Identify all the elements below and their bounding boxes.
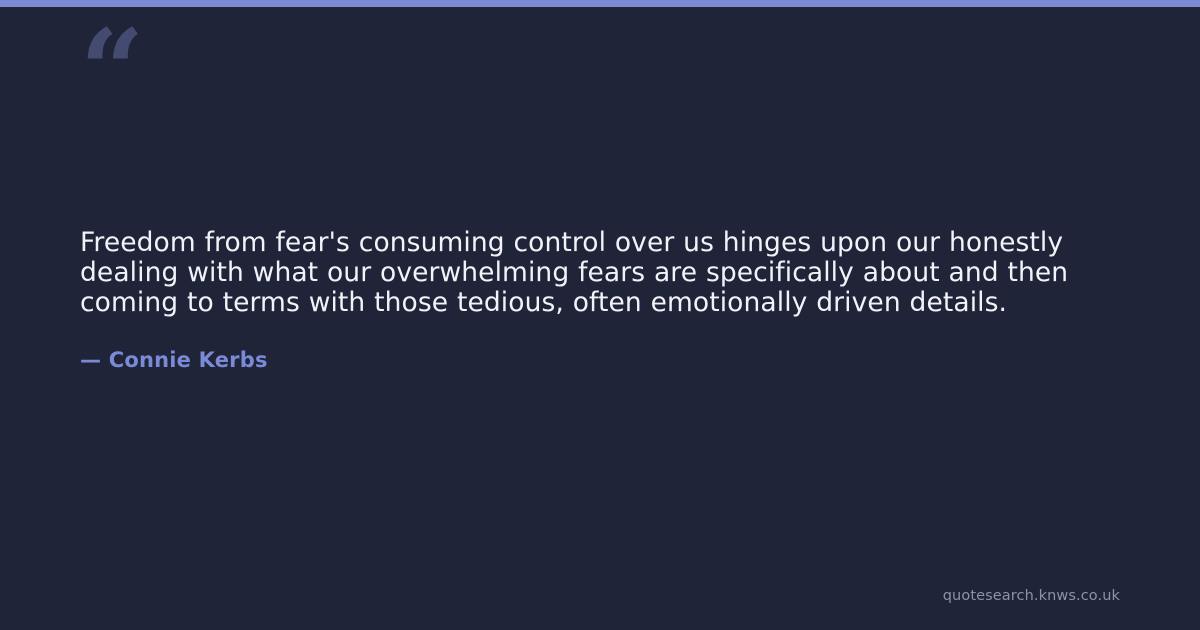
- quote-content: Freedom from fear's consuming control ov…: [80, 228, 1090, 373]
- quote-card: “ Freedom from fear's consuming control …: [0, 0, 1200, 630]
- opening-quote-mark-icon: “: [80, 16, 170, 96]
- top-accent-bar: [0, 0, 1200, 7]
- attribution-dash: —: [80, 348, 101, 372]
- quote-attribution: — Connie Kerbs: [80, 348, 1090, 373]
- quote-text: Freedom from fear's consuming control ov…: [80, 228, 1090, 318]
- site-watermark: quotesearch.knws.co.uk: [943, 588, 1120, 604]
- attribution-author-name: Connie Kerbs: [109, 348, 268, 372]
